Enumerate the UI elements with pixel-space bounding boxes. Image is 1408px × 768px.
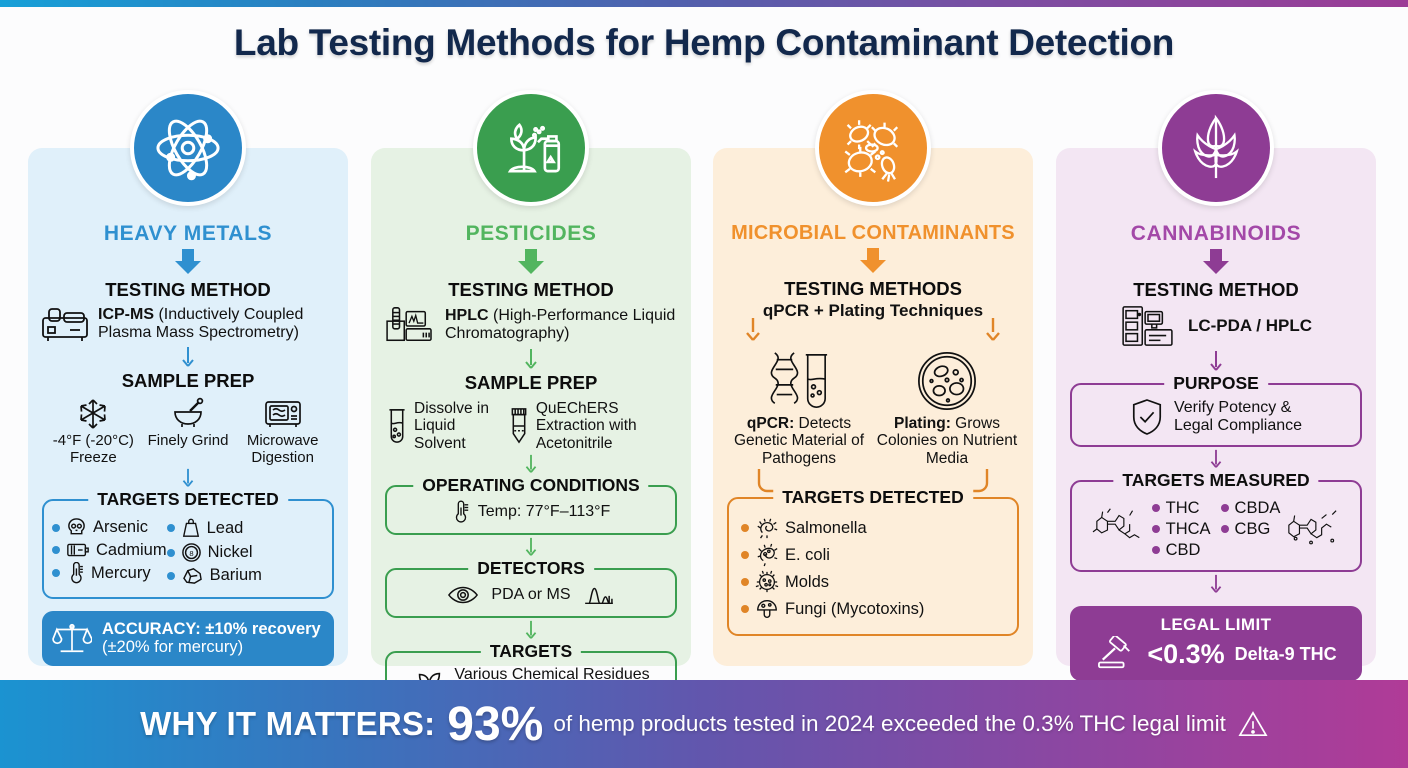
target-label: Arsenic xyxy=(93,518,148,536)
top-gradient-strip xyxy=(0,0,1408,7)
shield-check-icon xyxy=(1130,398,1164,436)
plant-spray-icon xyxy=(473,90,589,206)
sample-prep-heading: SAMPLE PREP xyxy=(40,370,336,392)
method-name: LC-PDA / HPLC xyxy=(1188,316,1312,335)
arrow-down-thin-icon xyxy=(1208,449,1224,469)
banner-lead-text: WHY IT MATTERS: xyxy=(140,705,435,743)
branch-label-bold: qPCR: xyxy=(747,415,794,432)
purpose-box: PURPOSE Verify Potency & Legal Complianc… xyxy=(1070,383,1362,447)
banner-statistic: 93% xyxy=(447,697,543,752)
ecoli-icon xyxy=(755,543,779,567)
bacteria-icon xyxy=(815,90,931,206)
list-item: CBDA xyxy=(1221,499,1281,517)
branch-plating: Plating: Grows Colonies on Nutrient Medi… xyxy=(873,350,1021,467)
list-item: Lead xyxy=(167,517,262,539)
prep-item-grind: Finely Grind xyxy=(141,397,236,466)
battery-icon xyxy=(66,541,90,559)
operating-conditions-heading: OPERATING CONDITIONS xyxy=(413,475,648,496)
arrow-down-thin-icon xyxy=(523,454,539,474)
arrow-down-icon xyxy=(173,249,203,275)
accuracy-line-1: ACCURACY: ±10% recovery xyxy=(102,620,321,638)
target-label: Molds xyxy=(785,573,829,591)
skull-icon xyxy=(66,517,87,538)
sample-prep-heading: SAMPLE PREP xyxy=(383,372,679,394)
list-item: Molds xyxy=(741,570,1009,594)
targets-detected-heading: TARGETS DETECTED xyxy=(88,489,288,510)
testing-method-heading: TESTING METHOD xyxy=(1068,279,1364,301)
targets-left-list: THC THCA CBD xyxy=(1152,496,1211,562)
targets-detected-box: TARGETS DETECTED Salmonella xyxy=(727,497,1019,636)
branch-label-bold: Plating: xyxy=(894,415,951,432)
bullet-dot xyxy=(741,524,749,532)
coin-icon: 8 xyxy=(181,542,202,563)
column-pesticides: PESTICIDES TESTING METHOD xyxy=(371,148,691,666)
legal-limit-value: <0.3% xyxy=(1147,639,1224,670)
targets-detected-heading: TARGETS DETECTED xyxy=(773,487,973,508)
prep-label: Finely Grind xyxy=(148,432,229,449)
accuracy-line-2: (±20% for mercury) xyxy=(102,638,321,656)
target-label: CBD xyxy=(1166,541,1201,559)
purpose-line-1: Verify Potency & xyxy=(1174,399,1302,417)
atom-icon xyxy=(130,90,246,206)
detectors-box: DETECTORS PDA or MS xyxy=(385,568,677,618)
prep-item-freeze: -4°F (-20°C) Freeze xyxy=(46,397,141,466)
targets-measured-heading: TARGETS MEASURED xyxy=(1113,470,1318,491)
cannabis-leaf-icon xyxy=(1158,90,1274,206)
gavel-icon xyxy=(1095,636,1137,672)
targets-right-list: CBDA CBG xyxy=(1221,496,1281,562)
bullet-dot xyxy=(741,578,749,586)
spectrum-peak-icon xyxy=(583,583,615,607)
target-label: CBG xyxy=(1235,520,1271,538)
operating-conditions-text: Temp: 77°F–113°F xyxy=(478,503,611,521)
target-label: THC xyxy=(1166,499,1200,517)
lc-system-icon xyxy=(1120,304,1176,348)
microwave-icon xyxy=(264,397,302,431)
detectors-heading: DETECTORS xyxy=(468,558,594,579)
centrifuge-tube-icon xyxy=(507,407,531,445)
prep-item-dissolve: Dissolve in Liquid Solvent xyxy=(385,400,503,452)
targets-left-list: Arsenic Cadmium xyxy=(52,514,167,588)
mortar-pestle-icon xyxy=(171,397,205,431)
legal-limit-pill: LEGAL LIMIT <0.3% Delta-9 THC xyxy=(1070,606,1362,681)
arrow-down-thin-icon xyxy=(180,468,196,488)
bullet-dot xyxy=(1152,525,1160,533)
branch-qpcr: qPCR: Detects Genetic Material of Pathog… xyxy=(725,350,873,467)
column-heavy-metals: HEAVY METALS TESTING METHOD xyxy=(28,148,348,666)
list-item: Fungi (Mycotoxins) xyxy=(741,597,1009,621)
arrow-down-thin-icon xyxy=(1208,350,1224,372)
testing-method-heading: TESTING METHOD xyxy=(383,279,679,301)
rock-icon xyxy=(181,566,204,585)
arrow-down-icon xyxy=(1201,249,1231,275)
banner-description: of hemp products tested in 2024 exceeded… xyxy=(553,711,1225,737)
category-title-microbial: MICROBIAL CONTAMINANTS xyxy=(725,222,1021,245)
bullet-dot xyxy=(167,572,175,580)
prep-item-quechers: QuEChERS Extraction with Acetonitrile xyxy=(507,400,677,452)
snowflake-icon xyxy=(76,397,110,431)
target-label: Lead xyxy=(207,519,244,537)
list-item: Mercury xyxy=(52,562,167,584)
purpose-line-2: Legal Compliance xyxy=(1174,417,1302,435)
column-cannabinoids: CANNABINOIDS TESTING METHOD xyxy=(1056,148,1376,666)
targets-heading: TARGETS xyxy=(481,641,581,662)
arrow-down-thin-icon xyxy=(180,346,196,368)
bullet-dot xyxy=(741,605,749,613)
chromatograph-icon xyxy=(383,304,437,346)
spectrometer-icon xyxy=(40,304,90,344)
target-label: Salmonella xyxy=(785,519,867,537)
scales-icon xyxy=(52,620,92,656)
list-item: Barium xyxy=(167,566,262,585)
purpose-heading: PURPOSE xyxy=(1164,373,1268,394)
targets-detected-box: TARGETS DETECTED Arsenic xyxy=(42,499,334,599)
list-item: 8 Nickel xyxy=(167,542,262,563)
list-item: CBG xyxy=(1221,520,1281,538)
prep-label: -4°F (-20°C) Freeze xyxy=(53,432,134,466)
dna-tube-icon xyxy=(763,350,835,412)
why-it-matters-banner: WHY IT MATTERS: 93% of hemp products tes… xyxy=(0,680,1408,768)
testing-method-heading: TESTING METHOD xyxy=(40,279,336,301)
molecule-icon xyxy=(1090,502,1150,556)
accuracy-pill: ACCURACY: ±10% recovery (±20% for mercur… xyxy=(42,611,334,666)
list-item: E. coli xyxy=(741,543,1009,567)
list-item: CBD xyxy=(1152,541,1211,559)
list-item: THC xyxy=(1152,499,1211,517)
category-title-cannabinoids: CANNABINOIDS xyxy=(1068,222,1364,246)
targets-right-list: Lead 8 Nickel xyxy=(167,514,262,588)
target-label: THCA xyxy=(1166,520,1211,538)
columns-container: HEAVY METALS TESTING METHOD xyxy=(0,148,1408,666)
bullet-dot xyxy=(52,546,60,554)
category-title-heavy-metals: HEAVY METALS xyxy=(40,222,336,246)
target-label: Mercury xyxy=(91,564,151,582)
operating-conditions-box: OPERATING CONDITIONS Temp: 77°F–113°F xyxy=(385,485,677,535)
arrow-down-icon xyxy=(858,248,888,274)
branch-connector xyxy=(725,318,1021,348)
infographic-page: Lab Testing Methods for Hemp Contaminant… xyxy=(0,0,1408,768)
bullet-dot xyxy=(1221,504,1229,512)
bullet-dot xyxy=(167,549,175,557)
target-label: CBDA xyxy=(1235,499,1281,517)
petri-dish-icon xyxy=(916,350,978,412)
prep-label: Microwave Digestion xyxy=(247,432,319,466)
svg-text:8: 8 xyxy=(189,549,193,558)
molecule-icon xyxy=(1282,502,1342,556)
salmonella-icon xyxy=(755,516,779,540)
detectors-text: PDA or MS xyxy=(491,586,570,604)
method-name: HPLC xyxy=(445,307,489,324)
sample-prep-items: Dissolve in Liquid Solvent QuEChERS Extr… xyxy=(383,400,679,452)
targets-list: Salmonella E. coli xyxy=(741,516,1009,621)
arrow-down-thin-icon xyxy=(523,537,539,557)
mushroom-icon xyxy=(755,597,779,621)
thermometer-icon xyxy=(66,562,85,584)
thermometer-icon xyxy=(452,500,470,524)
bullet-dot xyxy=(52,524,60,532)
sample-prep-items: -4°F (-20°C) Freeze Finely Grind xyxy=(40,397,336,466)
list-item: THCA xyxy=(1152,520,1211,538)
list-item: Arsenic xyxy=(52,517,167,538)
arrow-down-thin-icon xyxy=(523,348,539,370)
targets-measured-box: TARGETS MEASURED THC xyxy=(1070,480,1362,572)
list-item: Cadmium xyxy=(52,541,167,559)
test-tube-icon xyxy=(385,407,409,445)
page-title: Lab Testing Methods for Hemp Contaminant… xyxy=(0,22,1408,64)
bullet-dot xyxy=(1152,546,1160,554)
column-microbial: MICROBIAL CONTAMINANTS TESTING METHODS q… xyxy=(713,148,1033,666)
methods-branches: qPCR: Detects Genetic Material of Pathog… xyxy=(725,350,1021,467)
prep-label: Dissolve in Liquid Solvent xyxy=(414,400,503,452)
arrow-down-thin-icon xyxy=(523,620,539,640)
prep-item-microwave: Microwave Digestion xyxy=(235,397,330,466)
bullet-dot xyxy=(1221,525,1229,533)
warning-triangle-icon xyxy=(1238,710,1268,738)
category-title-pesticides: PESTICIDES xyxy=(383,222,679,246)
legal-limit-heading: LEGAL LIMIT xyxy=(1161,615,1272,635)
target-label: Cadmium xyxy=(96,541,167,559)
method-name: ICP-MS xyxy=(98,306,154,323)
target-label: Fungi (Mycotoxins) xyxy=(785,600,924,618)
mold-icon xyxy=(755,570,779,594)
bullet-dot xyxy=(167,524,175,532)
target-label: E. coli xyxy=(785,546,830,564)
bullet-dot xyxy=(741,551,749,559)
list-item: Salmonella xyxy=(741,516,1009,540)
target-label: Nickel xyxy=(208,543,253,561)
bullet-dot xyxy=(1152,504,1160,512)
eye-icon xyxy=(447,584,479,606)
testing-methods-heading: TESTING METHODS xyxy=(725,278,1021,300)
bullet-dot xyxy=(52,569,60,577)
target-label: Barium xyxy=(210,566,262,584)
prep-label: QuEChERS Extraction with Acetonitrile xyxy=(536,400,677,452)
weight-icon xyxy=(181,517,201,539)
legal-limit-label: Delta-9 THC xyxy=(1235,644,1337,665)
arrow-down-icon xyxy=(516,249,546,275)
arrow-down-thin-icon xyxy=(1208,574,1224,594)
